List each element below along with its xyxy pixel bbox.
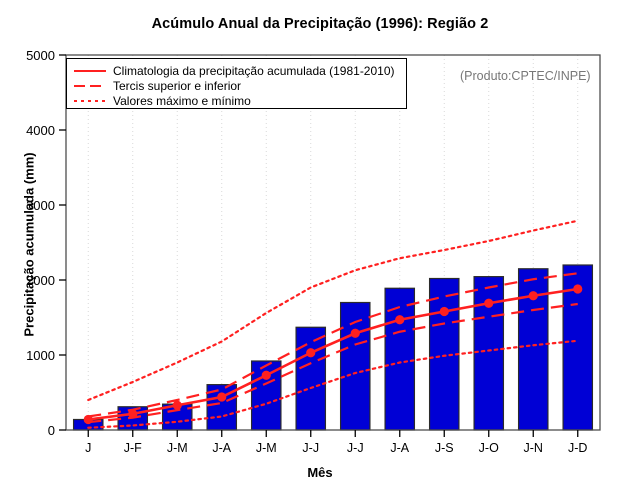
x-tick-label: J-D: [548, 442, 608, 455]
series-marker: [173, 401, 182, 410]
series-line: [88, 304, 578, 422]
series-marker: [306, 348, 315, 357]
series-marker: [484, 299, 493, 308]
series-marker: [573, 284, 582, 293]
legend-item-climatology: Climatologia da precipitação acumulada (…: [67, 63, 406, 79]
product-annotation: (Produto:CPTEC/INPE): [460, 69, 591, 83]
series-line: [88, 273, 578, 416]
series-marker: [84, 415, 93, 424]
y-tick-label: 4000: [9, 124, 55, 137]
legend: Climatologia da precipitação acumulada (…: [66, 58, 407, 109]
series-marker: [529, 291, 538, 300]
bar: [296, 327, 325, 430]
legend-key-solid-line-icon: [73, 63, 107, 79]
series-marker: [217, 392, 226, 401]
series-marker: [440, 307, 449, 316]
legend-item-extremes: Valores máximo e mínimo: [67, 93, 406, 109]
y-tick-label: 2000: [9, 274, 55, 287]
series-marker: [395, 315, 404, 324]
y-tick-label: 3000: [9, 199, 55, 212]
legend-key-dashed-line-icon: [73, 78, 107, 94]
legend-key-dotted-line-icon: [73, 93, 107, 109]
y-tick-label: 5000: [9, 49, 55, 62]
series-marker: [262, 371, 271, 380]
legend-label-climatology: Climatologia da precipitação acumulada (…: [113, 63, 395, 79]
legend-item-terciles: Tercis superior e inferior: [67, 78, 406, 94]
y-tick-label: 0: [9, 424, 55, 437]
legend-label-terciles: Tercis superior e inferior: [113, 78, 241, 94]
series-line: [88, 341, 578, 428]
y-tick-label: 1000: [9, 349, 55, 362]
legend-label-extremes: Valores máximo e mínimo: [113, 93, 251, 109]
series-marker: [351, 329, 360, 338]
bar: [430, 279, 459, 431]
series-line: [88, 221, 578, 400]
series-line: [88, 289, 578, 420]
series-marker: [128, 409, 137, 418]
chart-page: Acúmulo Anual da Precipitação (1996): Re…: [0, 0, 640, 500]
